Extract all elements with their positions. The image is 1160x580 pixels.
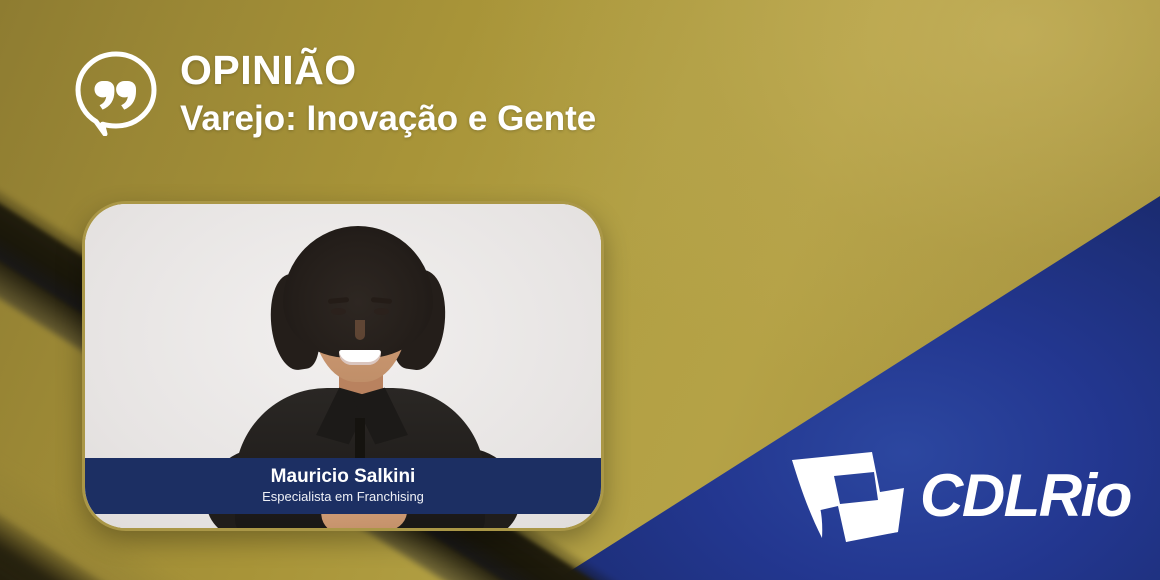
page-title: OPINIÃO <box>180 50 596 92</box>
portrait-nose <box>355 320 365 340</box>
portrait-eye-left <box>331 308 346 315</box>
speaker-role: Especialista em Franchising <box>262 489 424 506</box>
speaker-photo-card: Mauricio Salkini Especialista em Franchi… <box>82 201 604 531</box>
portrait-eye-right <box>374 308 389 315</box>
quote-speech-bubble-icon <box>72 48 160 136</box>
banner-header: OPINIÃO Varejo: Inovação e Gente <box>72 44 596 138</box>
header-text-block: OPINIÃO Varejo: Inovação e Gente <box>180 44 596 138</box>
cdlrio-flag-mark-icon <box>788 446 908 546</box>
cdlrio-logo: CDLRio <box>788 446 1131 546</box>
cdlrio-wordmark: CDLRio <box>920 466 1131 526</box>
opinion-banner: OPINIÃO Varejo: Inovação e Gente <box>0 0 1160 580</box>
portrait-mouth <box>339 350 381 365</box>
speaker-name: Mauricio Salkini <box>271 466 416 488</box>
page-subtitle: Varejo: Inovação e Gente <box>180 100 596 138</box>
speaker-nameplate: Mauricio Salkini Especialista em Franchi… <box>85 458 601 514</box>
